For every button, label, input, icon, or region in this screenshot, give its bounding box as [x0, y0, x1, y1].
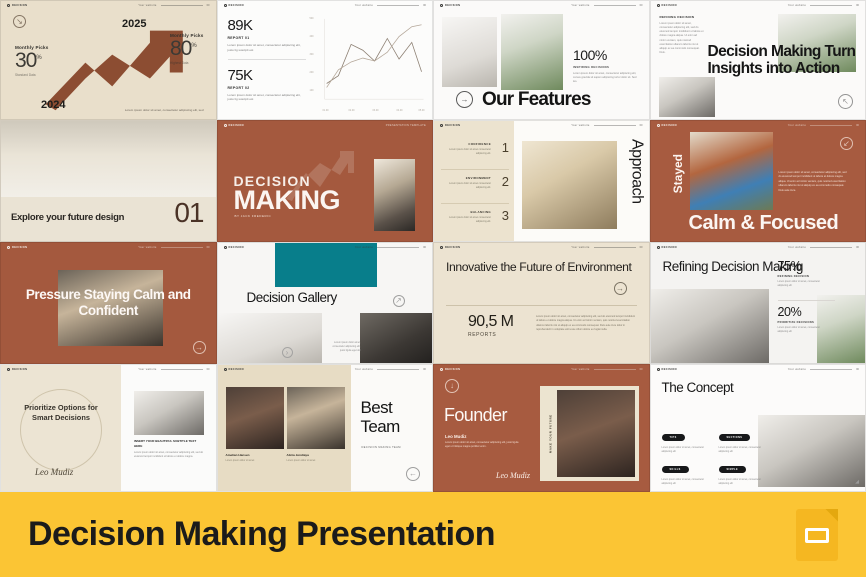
- slide-header: DECISION Your website00: [1, 1, 216, 10]
- percent-value: 100%: [573, 47, 637, 63]
- x-tick: 01.00: [323, 109, 329, 112]
- stat-block: 20% PRIORITIZE DECISIONS Lorem ipsum dol…: [778, 305, 828, 334]
- slide-prioritize-options[interactable]: DECISION Your website00 Prioritize Optio…: [0, 364, 217, 492]
- approach-item-number: 3: [502, 210, 509, 222]
- concept-cell: SKILLSLorem ipsum dolor sit amet, consec…: [662, 457, 710, 486]
- photo-street: [218, 313, 322, 363]
- slide-innovative-future[interactable]: DECISION Your website00 Innovative the F…: [433, 242, 650, 364]
- slide-header: DECISION Your website00: [218, 243, 433, 252]
- approach-item-title: BALANCING: [441, 210, 491, 214]
- arrow-left-icon[interactable]: ←: [406, 467, 420, 481]
- brand-logo: DECISION: [7, 4, 27, 7]
- kpi-right-value: 80: [170, 37, 191, 60]
- divider: [446, 305, 637, 306]
- slide-header: DECISION Your website00: [218, 1, 433, 10]
- stat-value: 75%: [778, 259, 828, 273]
- slide-header-right: Your website00: [355, 246, 426, 249]
- photo-staircase: [374, 159, 415, 231]
- stat1-label: REPORT 01: [228, 36, 306, 40]
- slide-header: DECISION Your website00: [651, 243, 866, 252]
- line-chart: 500 400 300 200 100 01.00 02.00 03.00 04…: [311, 15, 425, 107]
- signature: Leo Mudiz: [35, 467, 73, 477]
- bottom-banner: Decision Making Presentation: [0, 492, 866, 577]
- photo-desk: [659, 77, 715, 117]
- photo-desk-hands: [134, 391, 204, 435]
- stats-divider: [228, 59, 306, 60]
- photo-woman-sitting: [442, 17, 497, 87]
- stat-value: 20%: [778, 305, 828, 319]
- approach-item-title: ENVIRONMENT: [441, 176, 491, 180]
- stat-value: 90,5 M: [468, 313, 513, 331]
- approach-item-number: 1: [502, 142, 509, 154]
- slide-header-right: Your website00: [138, 4, 209, 7]
- concept-pill[interactable]: SECTIONS: [719, 434, 751, 442]
- concept-pill[interactable]: SKILLS: [662, 466, 689, 474]
- concept-pill[interactable]: TIPS: [662, 434, 685, 442]
- divider: [778, 300, 835, 301]
- approach-item-text: Lorem ipsum dolor sit amet consectetur a…: [441, 148, 491, 155]
- approach-item: ENVIRONMENTLorem ipsum dolor sit amet co…: [441, 176, 509, 189]
- slide-header-right: Your website00: [571, 124, 642, 127]
- stat-label: REFINING DECISION: [778, 275, 828, 278]
- signature: Leo Mudiz: [496, 471, 530, 480]
- brand-logo: DECISION: [7, 246, 27, 249]
- stat2-label: REPORT 02: [228, 86, 306, 90]
- stat-label: PRIORITIZE DECISIONS: [778, 321, 828, 324]
- approach-item-title: CONFIDENCE: [441, 142, 491, 146]
- slide-title: Prioritize Options for Smart Decisions: [20, 403, 102, 423]
- decorative-circle: [20, 389, 102, 471]
- y-tick: 400: [310, 35, 314, 38]
- concept-pill[interactable]: SIMPLE: [719, 466, 747, 474]
- stat-block: 75% REFINING DECISION Lorem ipsum dolor …: [778, 259, 828, 288]
- kpi-right: Monthly Picks 80% Highest Data: [170, 33, 204, 65]
- subtitle: INSERT YOUR BEAUTIFUL SUBTITLE TEXT HERE: [134, 439, 204, 448]
- arrow-up-right-icon[interactable]: ↗: [393, 295, 405, 307]
- photo-woman-laptop: [501, 14, 563, 90]
- slide-header-right: Your website00: [138, 246, 209, 249]
- kicker: REFINING DECISION: [660, 15, 705, 19]
- photo-circle-blue: [360, 313, 432, 363]
- concept-cell: SECTIONSLorem ipsum dolor sit amet, cons…: [719, 425, 767, 454]
- slide-header: DECISION Your website00: [218, 365, 433, 374]
- y-tick: 100: [310, 89, 314, 92]
- slide-pressure-staying[interactable]: DECISION Your website00 Pressure Staying…: [0, 242, 217, 364]
- slide-calm-focused[interactable]: DECISION Your website00 Stayed Lorem ips…: [650, 120, 866, 242]
- brand-logo: DECISION: [657, 246, 677, 249]
- slide-title: Founder: [444, 405, 507, 426]
- slide-header-right: Your website00: [138, 368, 209, 371]
- google-slides-icon: [796, 509, 838, 561]
- slide-header-right: Your website00: [355, 368, 426, 371]
- kpi-left: Monthly Picks 30% Standard Data: [15, 45, 49, 77]
- corner-mark-icon: ◢: [855, 479, 859, 485]
- brand-logo: DECISION: [224, 4, 244, 7]
- slide-caption: DECISION MAKING TEAM: [362, 446, 401, 449]
- slide-explore-future-design[interactable]: Explore your future design 01: [0, 120, 217, 242]
- kpi-left-sub: Standard Data: [15, 73, 49, 77]
- stat-text: Lorem ipsum dolor sit amet, consectetur …: [778, 280, 828, 288]
- slide-grid: DECISION Your website00 ↘ 2025 2024 Mont…: [0, 0, 866, 492]
- body-text: Lorem ipsum dolor sit amet, consectetur …: [536, 315, 637, 333]
- slide-header-right: Your website00: [355, 4, 426, 7]
- photo-desk-laptop: [758, 415, 865, 487]
- year-2025: 2025: [122, 18, 146, 30]
- founder-card: MAKE YOUR FUTURE: [540, 386, 639, 481]
- member-name-text: Alicia Jendiaya: [287, 453, 309, 457]
- slide-title: Best Team: [361, 399, 433, 436]
- brand-logo: DECISION: [440, 246, 460, 249]
- slide-header-right: Your website00: [571, 246, 642, 249]
- brand-logo: DECISION: [224, 246, 244, 249]
- y-tick: 300: [310, 53, 314, 56]
- slide-refining-decision-making[interactable]: DECISION Your website00 Refining Decisio…: [650, 242, 866, 364]
- vertical-text: MAKE YOUR FUTURE: [544, 390, 557, 477]
- stat2-text: Lorem ipsum dolor sit amet, consectetur …: [228, 93, 306, 102]
- brand-logo: DECISION: [440, 368, 460, 371]
- team-member-name: Alicia JendiayaLorem ipsum dolor sit ame…: [287, 453, 316, 462]
- slide-approach[interactable]: DECISION Your website00 CONFIDENCELorem …: [433, 120, 650, 242]
- concept-cell: TIPSLorem ipsum dolor sit amet, consecte…: [662, 425, 710, 454]
- title-line-2: MAKING: [234, 185, 341, 216]
- concept-text: Lorem ipsum dolor sit amet, consectetur …: [662, 478, 710, 486]
- slide-header-right: Your website00: [788, 246, 859, 249]
- stat-block: 90,5 M REPORTS: [468, 313, 513, 338]
- slide-header: DECISION PRESENTATION TEMPLATE: [218, 121, 433, 130]
- slide-header: DECISION Your website00: [434, 365, 649, 374]
- y-tick: 200: [310, 71, 314, 74]
- slide-title: Innovative the Future of Environment: [446, 260, 631, 275]
- slide-header: DECISION Your website00: [651, 121, 866, 130]
- stat2-value: 75K: [228, 67, 306, 84]
- approach-item-number: 2: [502, 176, 509, 188]
- year-2024: 2024: [41, 99, 65, 111]
- arrow-right-icon[interactable]: →: [456, 91, 473, 108]
- vertical-title: Approach: [628, 139, 646, 204]
- arrow-right-icon[interactable]: →: [193, 341, 206, 354]
- slide-best-team[interactable]: DECISION Your website00 Amelian HansenLo…: [217, 364, 434, 492]
- concept-text: Lorem ipsum dolor sit amet, consectetur …: [719, 478, 767, 486]
- member-role: Lorem ipsum dolor sit amet: [287, 459, 316, 462]
- arrow-down-left-icon[interactable]: ↙: [840, 137, 853, 150]
- percent-label: INSPIRING DECISIONS: [573, 65, 637, 69]
- body-text: Lorem ipsum dolor sit amet, consectetur …: [779, 171, 849, 193]
- slide-title: Our Features: [482, 89, 591, 111]
- arrow-right-icon[interactable]: →: [614, 282, 627, 295]
- slide-header: DECISION Your website00: [651, 1, 866, 10]
- banner-title: Decision Making Presentation: [28, 515, 495, 554]
- vertical-word: Stayed: [671, 154, 685, 193]
- x-tick: 05.00: [419, 109, 425, 112]
- body-text: Lorem ipsum dolor sit amet, consectetur …: [445, 441, 523, 450]
- chevron-down-icon[interactable]: ›: [282, 347, 293, 358]
- x-tick: 03.00: [373, 109, 379, 112]
- text-column: REFINING DECISION Lorem ipsum dolor sit …: [660, 15, 705, 55]
- member-role: Lorem ipsum dolor sit amet: [226, 459, 255, 462]
- x-tick: 02.00: [349, 109, 355, 112]
- slide-decision-gallery[interactable]: DECISION Your website00 Decision Gallery…: [217, 242, 434, 364]
- slide-header-right: PRESENTATION TEMPLATE: [386, 124, 426, 127]
- approach-item-text: Lorem ipsum dolor sit amet consectetur a…: [441, 182, 491, 189]
- slide-title: Decision Gallery: [247, 290, 337, 305]
- slide-header: DECISION Your website00: [1, 243, 216, 252]
- slide-header-right: Your website00: [571, 368, 642, 371]
- stat1-text: Lorem ipsum dolor sit amet, consectetur …: [228, 43, 306, 52]
- arrow-up-left-icon[interactable]: ↖: [838, 94, 853, 109]
- approach-item: BALANCINGLorem ipsum dolor sit amet cons…: [441, 210, 509, 223]
- slide-header-right: Your website00: [788, 124, 859, 127]
- kpi-right-sub: Highest Data: [170, 61, 204, 65]
- kpi-right-unit: %: [191, 43, 195, 49]
- slide-header: DECISION Your website00: [1, 365, 216, 374]
- byline: BY JACK FREDERIC: [235, 214, 272, 218]
- photo-hands-laptop: [651, 289, 769, 363]
- concept-text: Lorem ipsum dolor sit amet, consectetur …: [719, 446, 767, 454]
- slide-title: The Concept: [662, 380, 734, 395]
- slide-header: DECISION Your website00: [434, 121, 649, 130]
- photo-founder: [557, 390, 635, 477]
- arrow-down-icon[interactable]: ↓: [445, 379, 459, 393]
- stat-label: REPORTS: [468, 332, 513, 338]
- photo-armchair: [1, 121, 216, 197]
- slide-title: Decision Making Turn Insights into Actio…: [708, 43, 866, 78]
- body-text: Lorem ipsum dolor amet, consectetur adip…: [331, 341, 361, 353]
- percent-block: 100% INSPIRING DECISIONS Lorem ipsum dol…: [573, 47, 637, 84]
- member-name-text: Amelian Hansen: [226, 453, 250, 457]
- slide-header: DECISION Your website00: [434, 1, 649, 10]
- slide-the-concept[interactable]: DECISION Your website00 The Concept TIPS…: [650, 364, 866, 492]
- brand-logo: DECISION: [657, 124, 677, 127]
- brand-logo: DECISION: [224, 368, 244, 371]
- percent-text: Lorem ipsum dolor sit amet, consectetur …: [573, 72, 637, 84]
- slide-number: 01: [174, 197, 203, 229]
- brand-logo: DECISION: [7, 368, 27, 371]
- slide-title: Calm & Focused: [689, 212, 839, 235]
- brand-logo: DECISION: [657, 368, 677, 371]
- slide-title-decision-making[interactable]: DECISION PRESENTATION TEMPLATE DECISION …: [217, 120, 434, 242]
- concept-cell: SIMPLELorem ipsum dolor sit amet, consec…: [719, 457, 767, 486]
- founder-name: Leo Mudiz: [445, 434, 466, 439]
- footer-note: Lorem ipsum dolor sit amet, consectetur …: [125, 108, 204, 113]
- kpi-left-value: 30: [15, 49, 36, 72]
- slide-header-right: Your website00: [571, 4, 642, 7]
- slide-founder[interactable]: DECISION Your website00 ↓ Founder Leo Mu…: [433, 364, 650, 492]
- x-tick: 04.00: [397, 109, 403, 112]
- brand-logo: DECISION: [224, 124, 244, 127]
- body-text: Lorem ipsum dolor sit amet, consectetur …: [660, 22, 705, 55]
- brand-logo: DECISION: [440, 124, 460, 127]
- slide-our-features[interactable]: DECISION Your website00 100% INSPIRING D…: [433, 0, 650, 120]
- approach-item-text: Lorem ipsum dolor sit amet consectetur a…: [441, 216, 491, 223]
- approach-item: CONFIDENCELorem ipsum dolor sit amet con…: [441, 142, 509, 155]
- slide-growth-arrow[interactable]: DECISION Your website00 ↘ 2025 2024 Mont…: [0, 0, 217, 120]
- slide-header-right: Your website00: [788, 4, 859, 7]
- photo-lantern: [522, 141, 617, 229]
- concept-text: Lorem ipsum dolor sit amet, consectetur …: [662, 446, 710, 454]
- photo-architecture: [690, 132, 773, 210]
- stat-text: Lorem ipsum dolor sit amet, consectetur …: [778, 326, 828, 334]
- slide-insights-into-action[interactable]: DECISION Your website00 REFINING DECISIO…: [650, 0, 866, 120]
- stats-column: 89K REPORT 01 Lorem ipsum dolor sit amet…: [228, 17, 306, 102]
- slide-header: DECISION Your website00: [651, 365, 866, 374]
- brand-logo: DECISION: [657, 4, 677, 7]
- slide-reports-chart[interactable]: DECISION Your website00 89K REPORT 01 Lo…: [217, 0, 434, 120]
- presentation-preview-board: DECISION Your website00 ↘ 2025 2024 Mont…: [0, 0, 866, 577]
- team-member-name: Amelian HansenLorem ipsum dolor sit amet: [226, 453, 255, 462]
- brand-logo: DECISION: [440, 4, 460, 7]
- stat1-value: 89K: [228, 17, 306, 34]
- slide-header: DECISION Your website00: [434, 243, 649, 252]
- photo-team-member: [226, 387, 284, 449]
- slide-header-right: Your website00: [788, 368, 859, 371]
- kpi-left-unit: %: [36, 55, 40, 61]
- y-tick: 500: [310, 17, 314, 20]
- photo-team-member: [287, 387, 345, 449]
- slide-title: Pressure Staying Calm and Confident: [1, 287, 216, 319]
- body-text: Lorem ipsum dolor sit amet, consectetur …: [134, 451, 204, 460]
- slide-caption: Explore your future design: [11, 212, 124, 223]
